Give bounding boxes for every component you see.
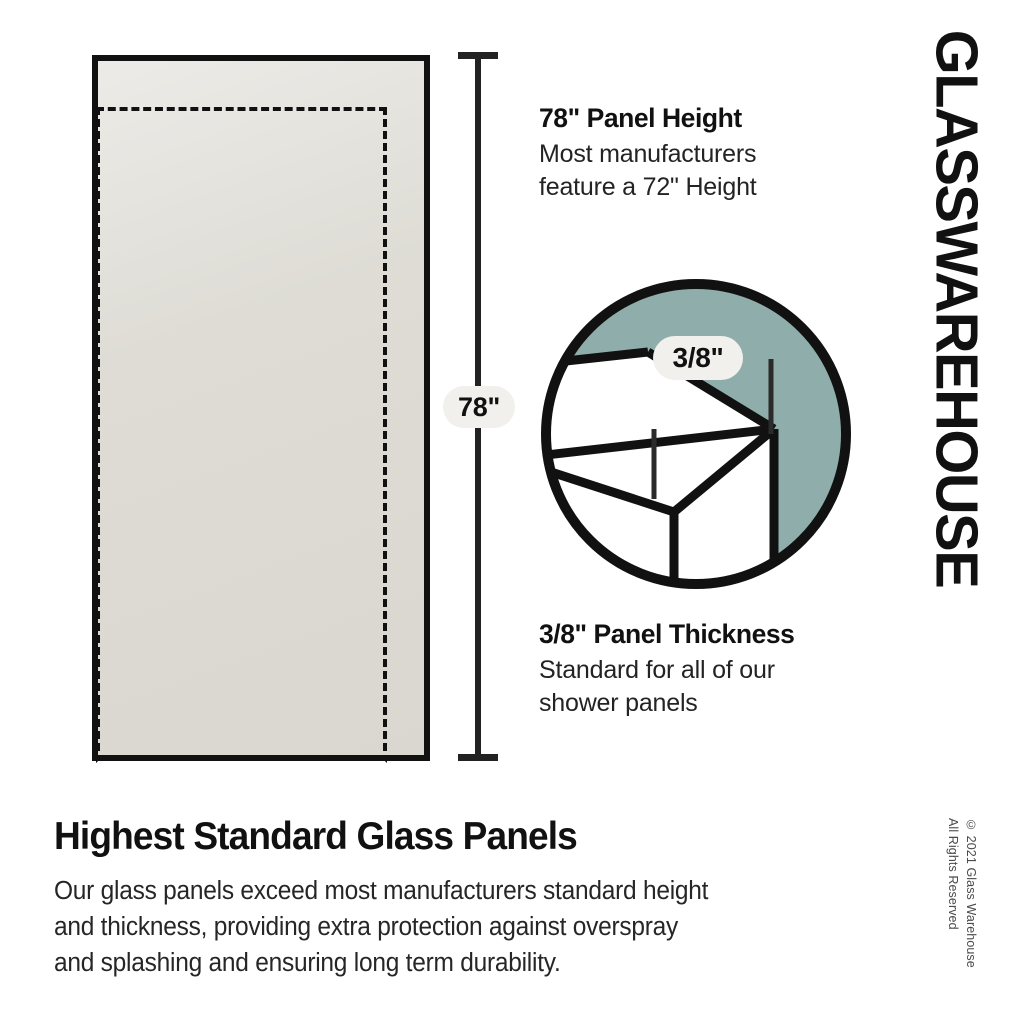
panel-edge-detail-illustration (536, 274, 856, 594)
panel-height-badge: 78" (443, 386, 515, 428)
footer-paragraph-line1: Our glass panels exceed most manufacture… (54, 877, 708, 905)
brand-wordmark: GLASSWAREHOUSE (916, 24, 996, 604)
callout-panel-thickness-title: 3/8" Panel Thickness (539, 618, 899, 650)
panel-dashed-inner-outline (96, 107, 387, 763)
footer-paragraph-line3: and splashing and ensuring long term dur… (54, 949, 561, 977)
callout-panel-thickness-body-line1: Standard for all of our (539, 656, 775, 684)
brand-wordmark-text: GLASSWAREHOUSE (927, 30, 986, 588)
callout-panel-height-body-line2: feature a 72" Height (539, 173, 757, 201)
footer-paragraph-line2: and thickness, providing extra protectio… (54, 913, 678, 941)
dimension-cap-bottom (458, 754, 498, 761)
panel-thickness-badge: 3/8" (653, 336, 743, 380)
callout-panel-thickness-body-line2: shower panels (539, 689, 698, 717)
dimension-cap-top (458, 52, 498, 59)
footer-paragraph: Our glass panels exceed most manufacture… (54, 873, 865, 982)
callout-panel-thickness-body: Standard for all of our shower panels (539, 654, 899, 720)
callout-panel-height-title: 78" Panel Height (539, 102, 899, 134)
copyright-notice: © 2021 Glass Warehouse All Rights Reserv… (936, 818, 980, 993)
infographic-canvas: 78" 78" Panel Height Most manufacturers … (0, 0, 1024, 1024)
callout-panel-height-body-line1: Most manufacturers (539, 140, 756, 168)
glass-panel-diagram (92, 55, 430, 761)
footer-text-block: Highest Standard Glass Panels Our glass … (54, 816, 899, 982)
callout-panel-thickness: 3/8" Panel Thickness Standard for all of… (539, 618, 899, 720)
callout-panel-height: 78" Panel Height Most manufacturers feat… (539, 102, 899, 204)
callout-panel-height-body: Most manufacturers feature a 72" Height (539, 138, 899, 204)
footer-heading: Highest Standard Glass Panels (54, 816, 857, 859)
